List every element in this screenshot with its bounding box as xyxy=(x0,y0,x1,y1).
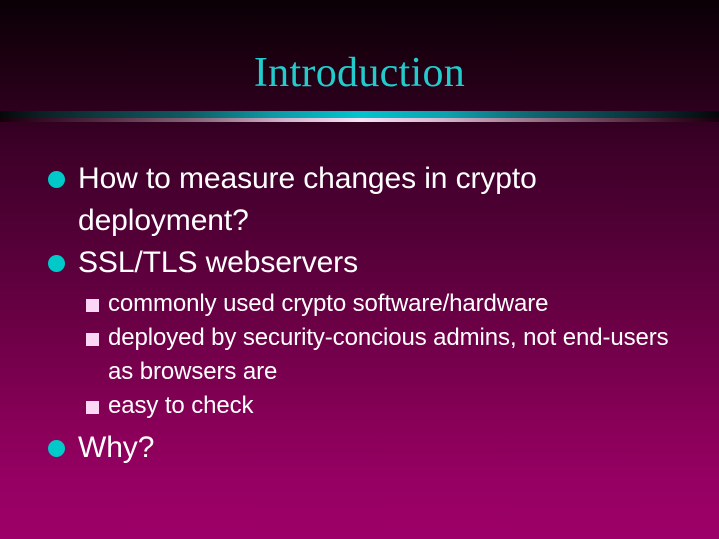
list-item: deployed by security-concious admins, no… xyxy=(86,321,688,389)
filled-circle-bullet-icon xyxy=(48,440,66,457)
sub-list-group: commonly used crypto software/hardware d… xyxy=(48,287,688,423)
list-item-label: How to measure changes in crypto deploym… xyxy=(78,158,688,242)
list-item: SSL/TLS webservers xyxy=(48,242,688,284)
list-item-label: easy to check xyxy=(108,389,688,423)
title-divider xyxy=(0,110,719,123)
list-item-label: SSL/TLS webservers xyxy=(78,242,688,284)
list-item: commonly used crypto software/hardware xyxy=(86,287,688,321)
filled-square-bullet-icon xyxy=(86,333,99,346)
list-item: How to measure changes in crypto deploym… xyxy=(48,158,688,242)
divider-rule-pink xyxy=(0,118,719,122)
list-item-label: deployed by security-concious admins, no… xyxy=(108,321,688,389)
divider-rule-teal xyxy=(0,111,719,118)
filled-circle-bullet-icon xyxy=(48,255,66,272)
presentation-slide: Introduction How to measure changes in c… xyxy=(0,0,719,539)
list-item-label: Why? xyxy=(78,427,688,469)
list-item: Why? xyxy=(48,427,688,469)
list-item-label: commonly used crypto software/hardware xyxy=(108,287,688,321)
slide-body-content: How to measure changes in crypto deploym… xyxy=(48,158,688,469)
filled-square-bullet-icon xyxy=(86,299,99,312)
filled-square-bullet-icon xyxy=(86,401,99,414)
page-title: Introduction xyxy=(254,47,465,99)
list-item: easy to check xyxy=(86,389,688,423)
slide-title-area: Introduction xyxy=(0,47,719,105)
filled-circle-bullet-icon xyxy=(48,171,66,188)
